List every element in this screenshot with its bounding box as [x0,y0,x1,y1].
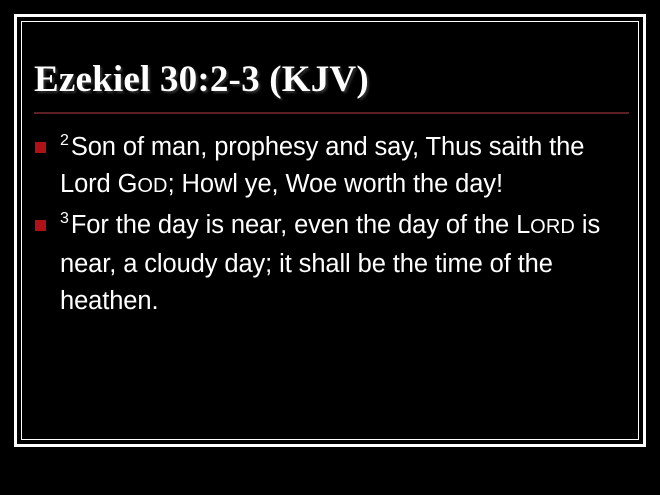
divine-name-smallcaps: OD [137,175,167,197]
divine-name-smallcaps: ORD [530,216,575,238]
verse-number: 3 [60,210,71,227]
list-item: 2Son of man, prophesy and say, Thus sait… [34,129,629,205]
verse-number: 2 [60,132,71,149]
title-divider-rule [34,112,629,114]
verse-text-part: ; Howl ye, Woe worth the day! [168,170,503,198]
title-block: Ezekiel 30:2-3 (KJV) [34,34,629,114]
scripture-bullet-list: 2Son of man, prophesy and say, Thus sait… [34,129,629,320]
divine-name-initial: L [516,211,530,239]
divine-name-initial: G [118,170,138,198]
square-bullet-icon [35,142,46,153]
list-item: 3For the day is near, even the day of th… [34,207,629,320]
presentation-slide: Ezekiel 30:2-3 (KJV) 2Son of man, prophe… [0,0,660,495]
verse-text-part: For the day is near, even the day of the [71,211,516,239]
square-bullet-icon [35,220,46,231]
slide-content-area: Ezekiel 30:2-3 (KJV) 2Son of man, prophe… [34,34,629,435]
slide-title: Ezekiel 30:2-3 (KJV) [34,58,629,102]
